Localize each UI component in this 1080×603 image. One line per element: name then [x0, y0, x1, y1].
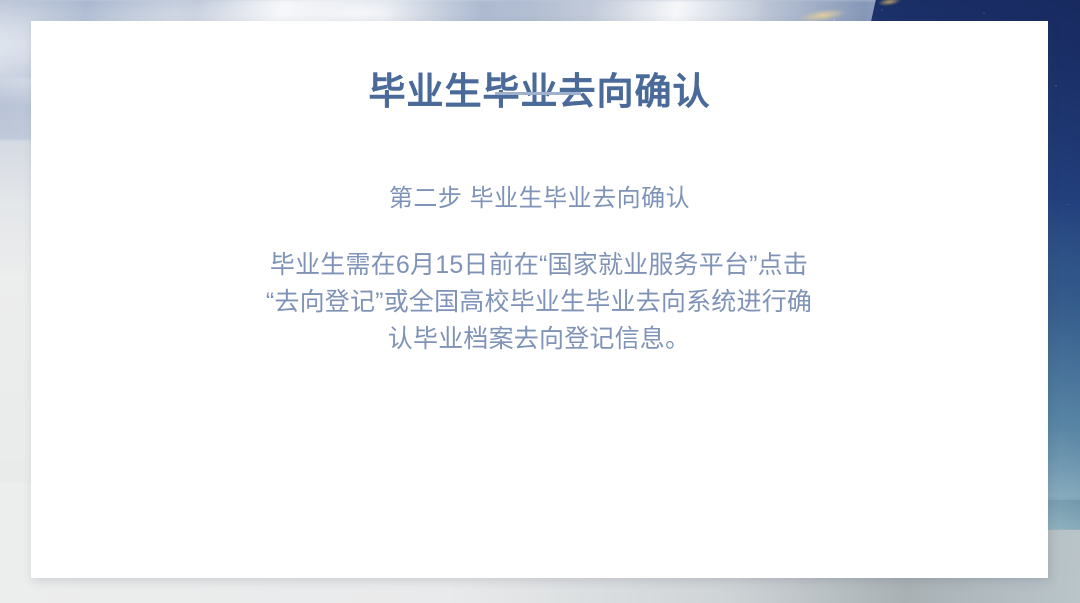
title-container: 毕业生毕业去向确认 [31, 43, 1048, 139]
body-line: 认毕业档案去向登记信息。 [209, 321, 869, 358]
content-card: 毕业生毕业去向确认 第二步 毕业生毕业去向确认 毕业生需在6月15日前在“国家就… [31, 21, 1048, 578]
body-line: 毕业生需在6月15日前在“国家就业服务平台”点击 [209, 247, 869, 284]
slide-root: 毕业生毕业去向确认 第二步 毕业生毕业去向确认 毕业生需在6月15日前在“国家就… [0, 0, 1080, 603]
body-line: “去向登记”或全国高校毕业生毕业去向系统进行确 [209, 284, 869, 321]
title-underline-rule [495, 92, 581, 95]
step-subtitle: 第二步 毕业生毕业去向确认 [31, 182, 1048, 216]
body-paragraph: 毕业生需在6月15日前在“国家就业服务平台”点击 “去向登记”或全国高校毕业生毕… [209, 247, 869, 358]
page-title: 毕业生毕业去向确认 [369, 68, 711, 114]
